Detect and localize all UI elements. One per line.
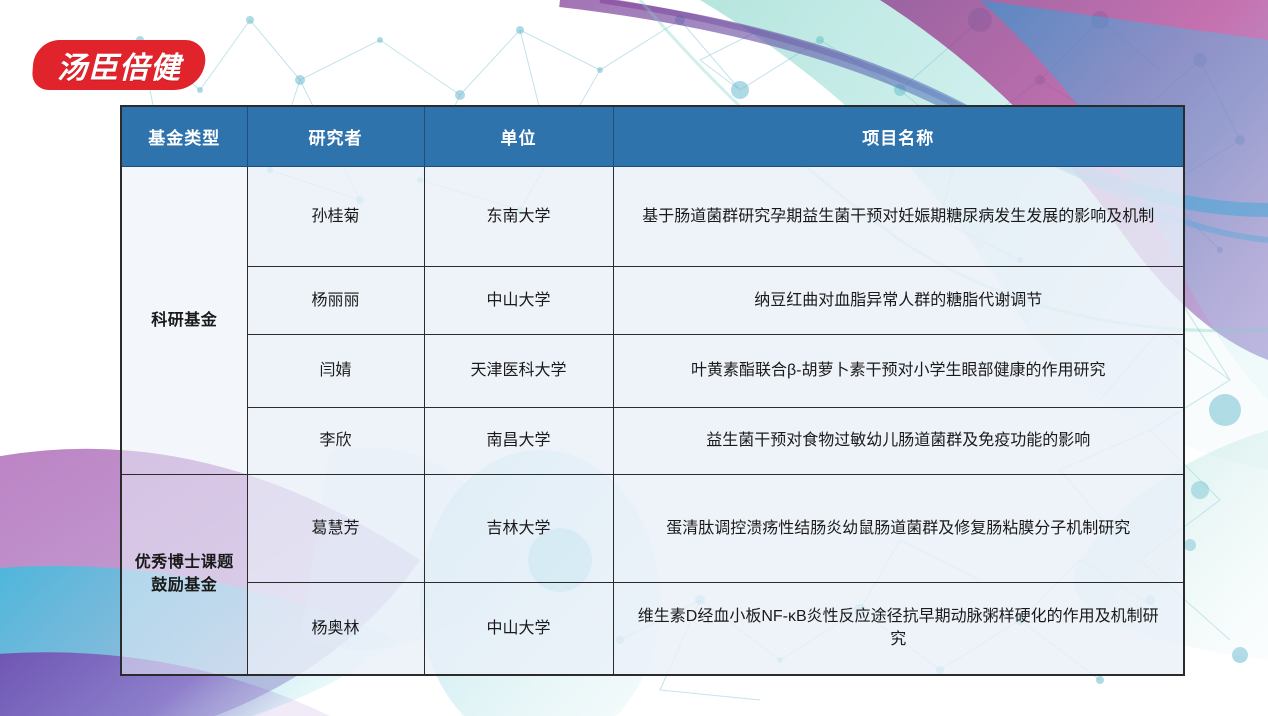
organization-cell: 天津医科大学	[424, 335, 613, 408]
project-title-cell: 纳豆红曲对血脂异常人群的糖脂代谢调节	[613, 267, 1184, 335]
logo-text: 汤臣倍健	[33, 40, 205, 90]
project-title-cell: 基于肠道菌群研究孕期益生菌干预对妊娠期糖尿病发生发展的影响及机制	[613, 167, 1184, 267]
researcher-cell: 杨丽丽	[247, 267, 424, 335]
column-header-project: 项目名称	[613, 106, 1184, 167]
research-fund-table: 基金类型 研究者 单位 项目名称 科研基金 孙桂菊 东南大学 基于肠道菌群研究孕…	[120, 105, 1185, 676]
project-title-cell: 叶黄素酯联合β-胡萝卜素干预对小学生眼部健康的作用研究	[613, 335, 1184, 408]
researcher-cell: 杨奥林	[247, 583, 424, 675]
fund-type-line-2: 鼓励基金	[151, 577, 217, 594]
column-header-fund-type: 基金类型	[121, 106, 247, 167]
fund-type-line-1: 优秀博士课题	[135, 554, 234, 571]
organization-cell: 中山大学	[424, 267, 613, 335]
researcher-cell: 闫婧	[247, 335, 424, 408]
researcher-cell: 李欣	[247, 408, 424, 475]
researcher-cell: 葛慧芳	[247, 475, 424, 583]
table-row: 李欣 南昌大学 益生菌干预对食物过敏幼儿肠道菌群及免疫功能的影响	[121, 408, 1184, 475]
fund-type-cell-doctoral: 优秀博士课题 鼓励基金	[121, 475, 247, 675]
project-title-cell: 益生菌干预对食物过敏幼儿肠道菌群及免疫功能的影响	[613, 408, 1184, 475]
slide-page: 汤臣倍健 基金类型 研究者 单位 项目名称 科研基金 孙桂菊 东南大学 基于肠道…	[0, 0, 1268, 716]
organization-cell: 吉林大学	[424, 475, 613, 583]
column-header-researcher: 研究者	[247, 106, 424, 167]
table-row: 优秀博士课题 鼓励基金 葛慧芳 吉林大学 蛋清肽调控溃疡性结肠炎幼鼠肠道菌群及修…	[121, 475, 1184, 583]
column-header-organization: 单位	[424, 106, 613, 167]
table-row: 科研基金 孙桂菊 东南大学 基于肠道菌群研究孕期益生菌干预对妊娠期糖尿病发生发展…	[121, 167, 1184, 267]
table-body: 科研基金 孙桂菊 东南大学 基于肠道菌群研究孕期益生菌干预对妊娠期糖尿病发生发展…	[121, 167, 1184, 675]
researcher-cell: 孙桂菊	[247, 167, 424, 267]
brand-logo: 汤臣倍健	[33, 40, 205, 90]
project-title-cell: 蛋清肽调控溃疡性结肠炎幼鼠肠道菌群及修复肠粘膜分子机制研究	[613, 475, 1184, 583]
table-row: 杨丽丽 中山大学 纳豆红曲对血脂异常人群的糖脂代谢调节	[121, 267, 1184, 335]
table-header-row: 基金类型 研究者 单位 项目名称	[121, 106, 1184, 167]
table-row: 闫婧 天津医科大学 叶黄素酯联合β-胡萝卜素干预对小学生眼部健康的作用研究	[121, 335, 1184, 408]
organization-cell: 中山大学	[424, 583, 613, 675]
table-row: 杨奥林 中山大学 维生素D经血小板NF-κB炎性反应途径抗早期动脉粥样硬化的作用…	[121, 583, 1184, 675]
fund-type-cell-research: 科研基金	[121, 167, 247, 475]
project-title-cell: 维生素D经血小板NF-κB炎性反应途径抗早期动脉粥样硬化的作用及机制研究	[613, 583, 1184, 675]
organization-cell: 东南大学	[424, 167, 613, 267]
table-header: 基金类型 研究者 单位 项目名称	[121, 106, 1184, 167]
organization-cell: 南昌大学	[424, 408, 613, 475]
